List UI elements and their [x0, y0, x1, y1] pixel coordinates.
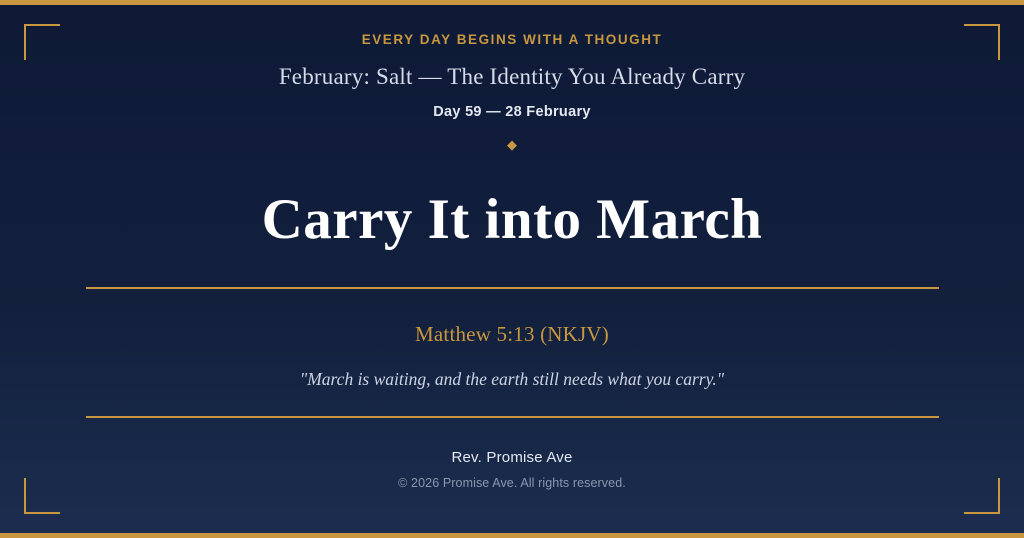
- copyright-notice: © 2026 Promise Ave. All rights reserved.: [60, 476, 964, 490]
- slide-content: EVERY DAY BEGINS WITH A THOUGHT February…: [0, 0, 1024, 538]
- page-title: Carry It into March: [60, 189, 964, 252]
- divider-below-scripture: [86, 416, 939, 418]
- day-counter: Day 59 — 28 February: [60, 104, 964, 120]
- diamond-ornament-icon: ◆: [60, 138, 964, 151]
- eyebrow-tagline: EVERY DAY BEGINS WITH A THOUGHT: [60, 32, 964, 47]
- divider-above-scripture: [86, 287, 939, 289]
- series-title: February: Salt — The Identity You Alread…: [60, 64, 964, 90]
- scripture-reference: Matthew 5:13 (NKJV): [60, 322, 964, 347]
- devotional-slide: EVERY DAY BEGINS WITH A THOUGHT February…: [0, 0, 1024, 538]
- author-name: Rev. Promise Ave: [60, 449, 964, 466]
- scripture-quote: "March is waiting, and the earth still n…: [252, 366, 772, 392]
